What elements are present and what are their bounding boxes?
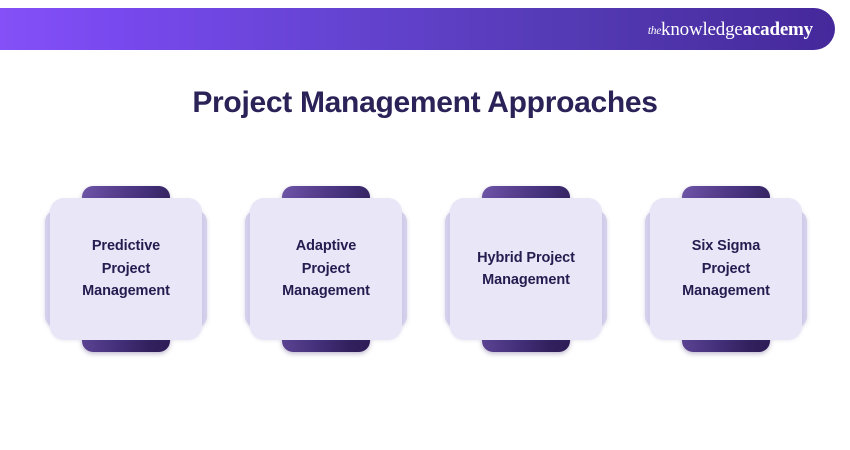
card-face: Six Sigma Project Management bbox=[650, 198, 802, 340]
approach-card-predictive[interactable]: Predictive Project Management bbox=[45, 186, 207, 352]
card-label: Adaptive Project Management bbox=[276, 235, 376, 302]
brand-logo-the: the bbox=[648, 25, 661, 37]
brand-logo-knowledge: knowledge bbox=[661, 19, 743, 40]
card-label: Hybrid Project Management bbox=[471, 247, 581, 292]
brand-logo-academy: academy bbox=[743, 19, 813, 40]
card-face: Predictive Project Management bbox=[50, 198, 202, 340]
approach-cards-row: Predictive Project Management Adaptive P… bbox=[45, 186, 807, 352]
page-title: Project Management Approaches bbox=[0, 85, 850, 121]
card-face: Hybrid Project Management bbox=[450, 198, 602, 340]
approach-card-hybrid[interactable]: Hybrid Project Management bbox=[445, 186, 607, 352]
brand-logo[interactable]: theknowledgeacademy bbox=[648, 20, 813, 39]
card-label: Predictive Project Management bbox=[76, 235, 176, 302]
approach-card-adaptive[interactable]: Adaptive Project Management bbox=[245, 186, 407, 352]
approach-card-six-sigma[interactable]: Six Sigma Project Management bbox=[645, 186, 807, 352]
card-face: Adaptive Project Management bbox=[250, 198, 402, 340]
card-label: Six Sigma Project Management bbox=[676, 235, 776, 302]
header-bar: theknowledgeacademy bbox=[0, 8, 835, 50]
